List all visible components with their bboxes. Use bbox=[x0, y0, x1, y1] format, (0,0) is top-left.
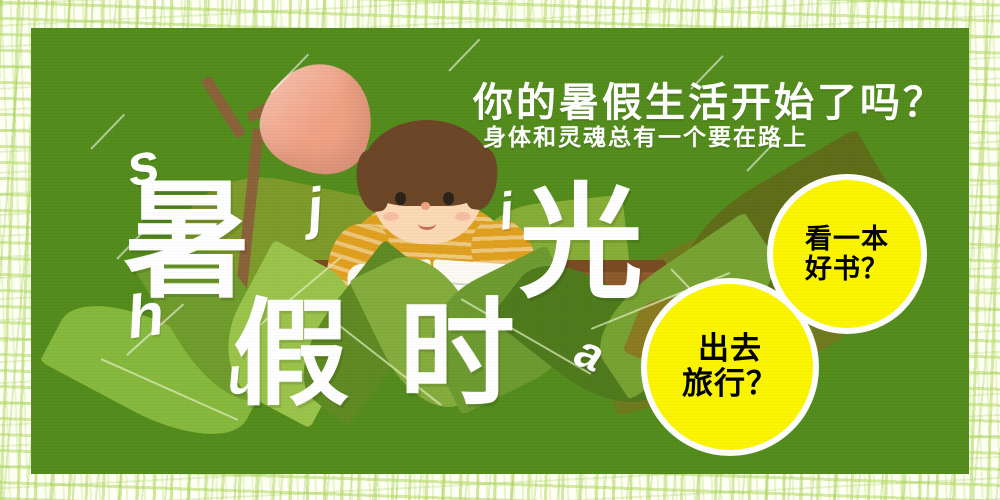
badge-read-book-line2: 好书？ bbox=[805, 254, 889, 284]
lamp-upper-arm bbox=[201, 75, 246, 138]
dash-5 bbox=[448, 39, 480, 72]
boy-mouth bbox=[418, 217, 436, 230]
badge-travel-line2: 旅行？ bbox=[682, 367, 778, 402]
banner-stage: s h u j i a 暑 光 假 时 你的暑假生活开始了吗？ 身体和灵魂总有一… bbox=[31, 28, 969, 474]
boy-cheek-left bbox=[383, 212, 399, 221]
title-char-jia: 假 bbox=[233, 296, 349, 412]
boy-cheek-right bbox=[455, 212, 471, 221]
title-char-shu: 暑 bbox=[123, 178, 251, 306]
headline-sub: 身体和灵魂总有一个要在路上 bbox=[483, 118, 808, 152]
boy-eye-right bbox=[443, 192, 454, 205]
boy-nose bbox=[421, 202, 430, 210]
title-char-shi: 时 bbox=[399, 296, 515, 412]
boy-eye-left bbox=[395, 192, 406, 205]
badge-travel[interactable]: 出去 旅行？ bbox=[641, 278, 819, 456]
badge-read-book-line1: 看一本 bbox=[805, 224, 889, 254]
dash-1 bbox=[90, 114, 125, 150]
summer-vacation-banner: s h u j i a 暑 光 假 时 你的暑假生活开始了吗？ 身体和灵魂总有一… bbox=[0, 0, 1000, 500]
title-char-guang: 光 bbox=[519, 182, 643, 306]
badge-travel-line1: 出去 bbox=[698, 332, 762, 367]
